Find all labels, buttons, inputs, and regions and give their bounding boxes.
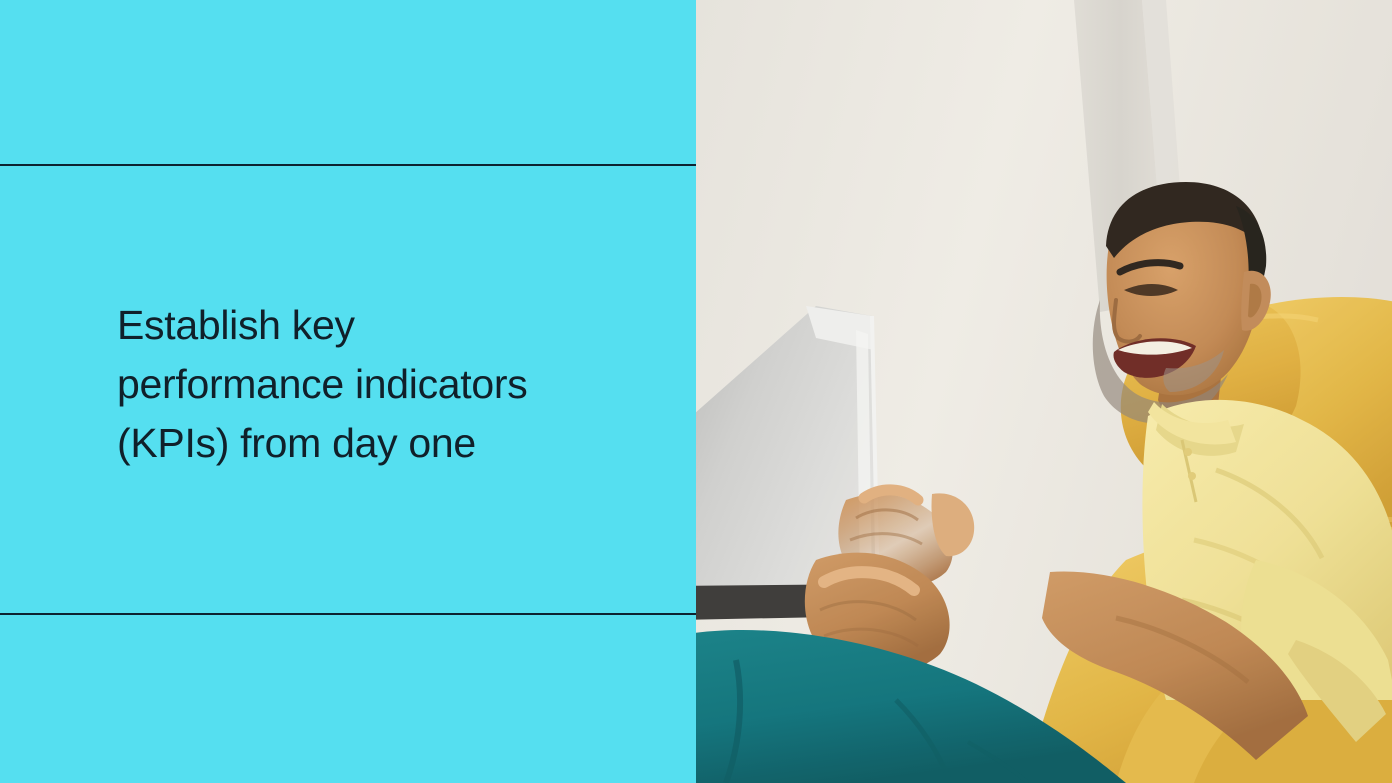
divider-top [0, 164, 696, 166]
page-title: Establish key performance indicators (KP… [117, 296, 617, 473]
divider-bottom [0, 613, 696, 615]
hero-photo [696, 0, 1392, 783]
slide: Establish key performance indicators (KP… [0, 0, 1392, 783]
photo-illustration [696, 0, 1392, 783]
text-panel: Establish key performance indicators (KP… [0, 0, 696, 783]
